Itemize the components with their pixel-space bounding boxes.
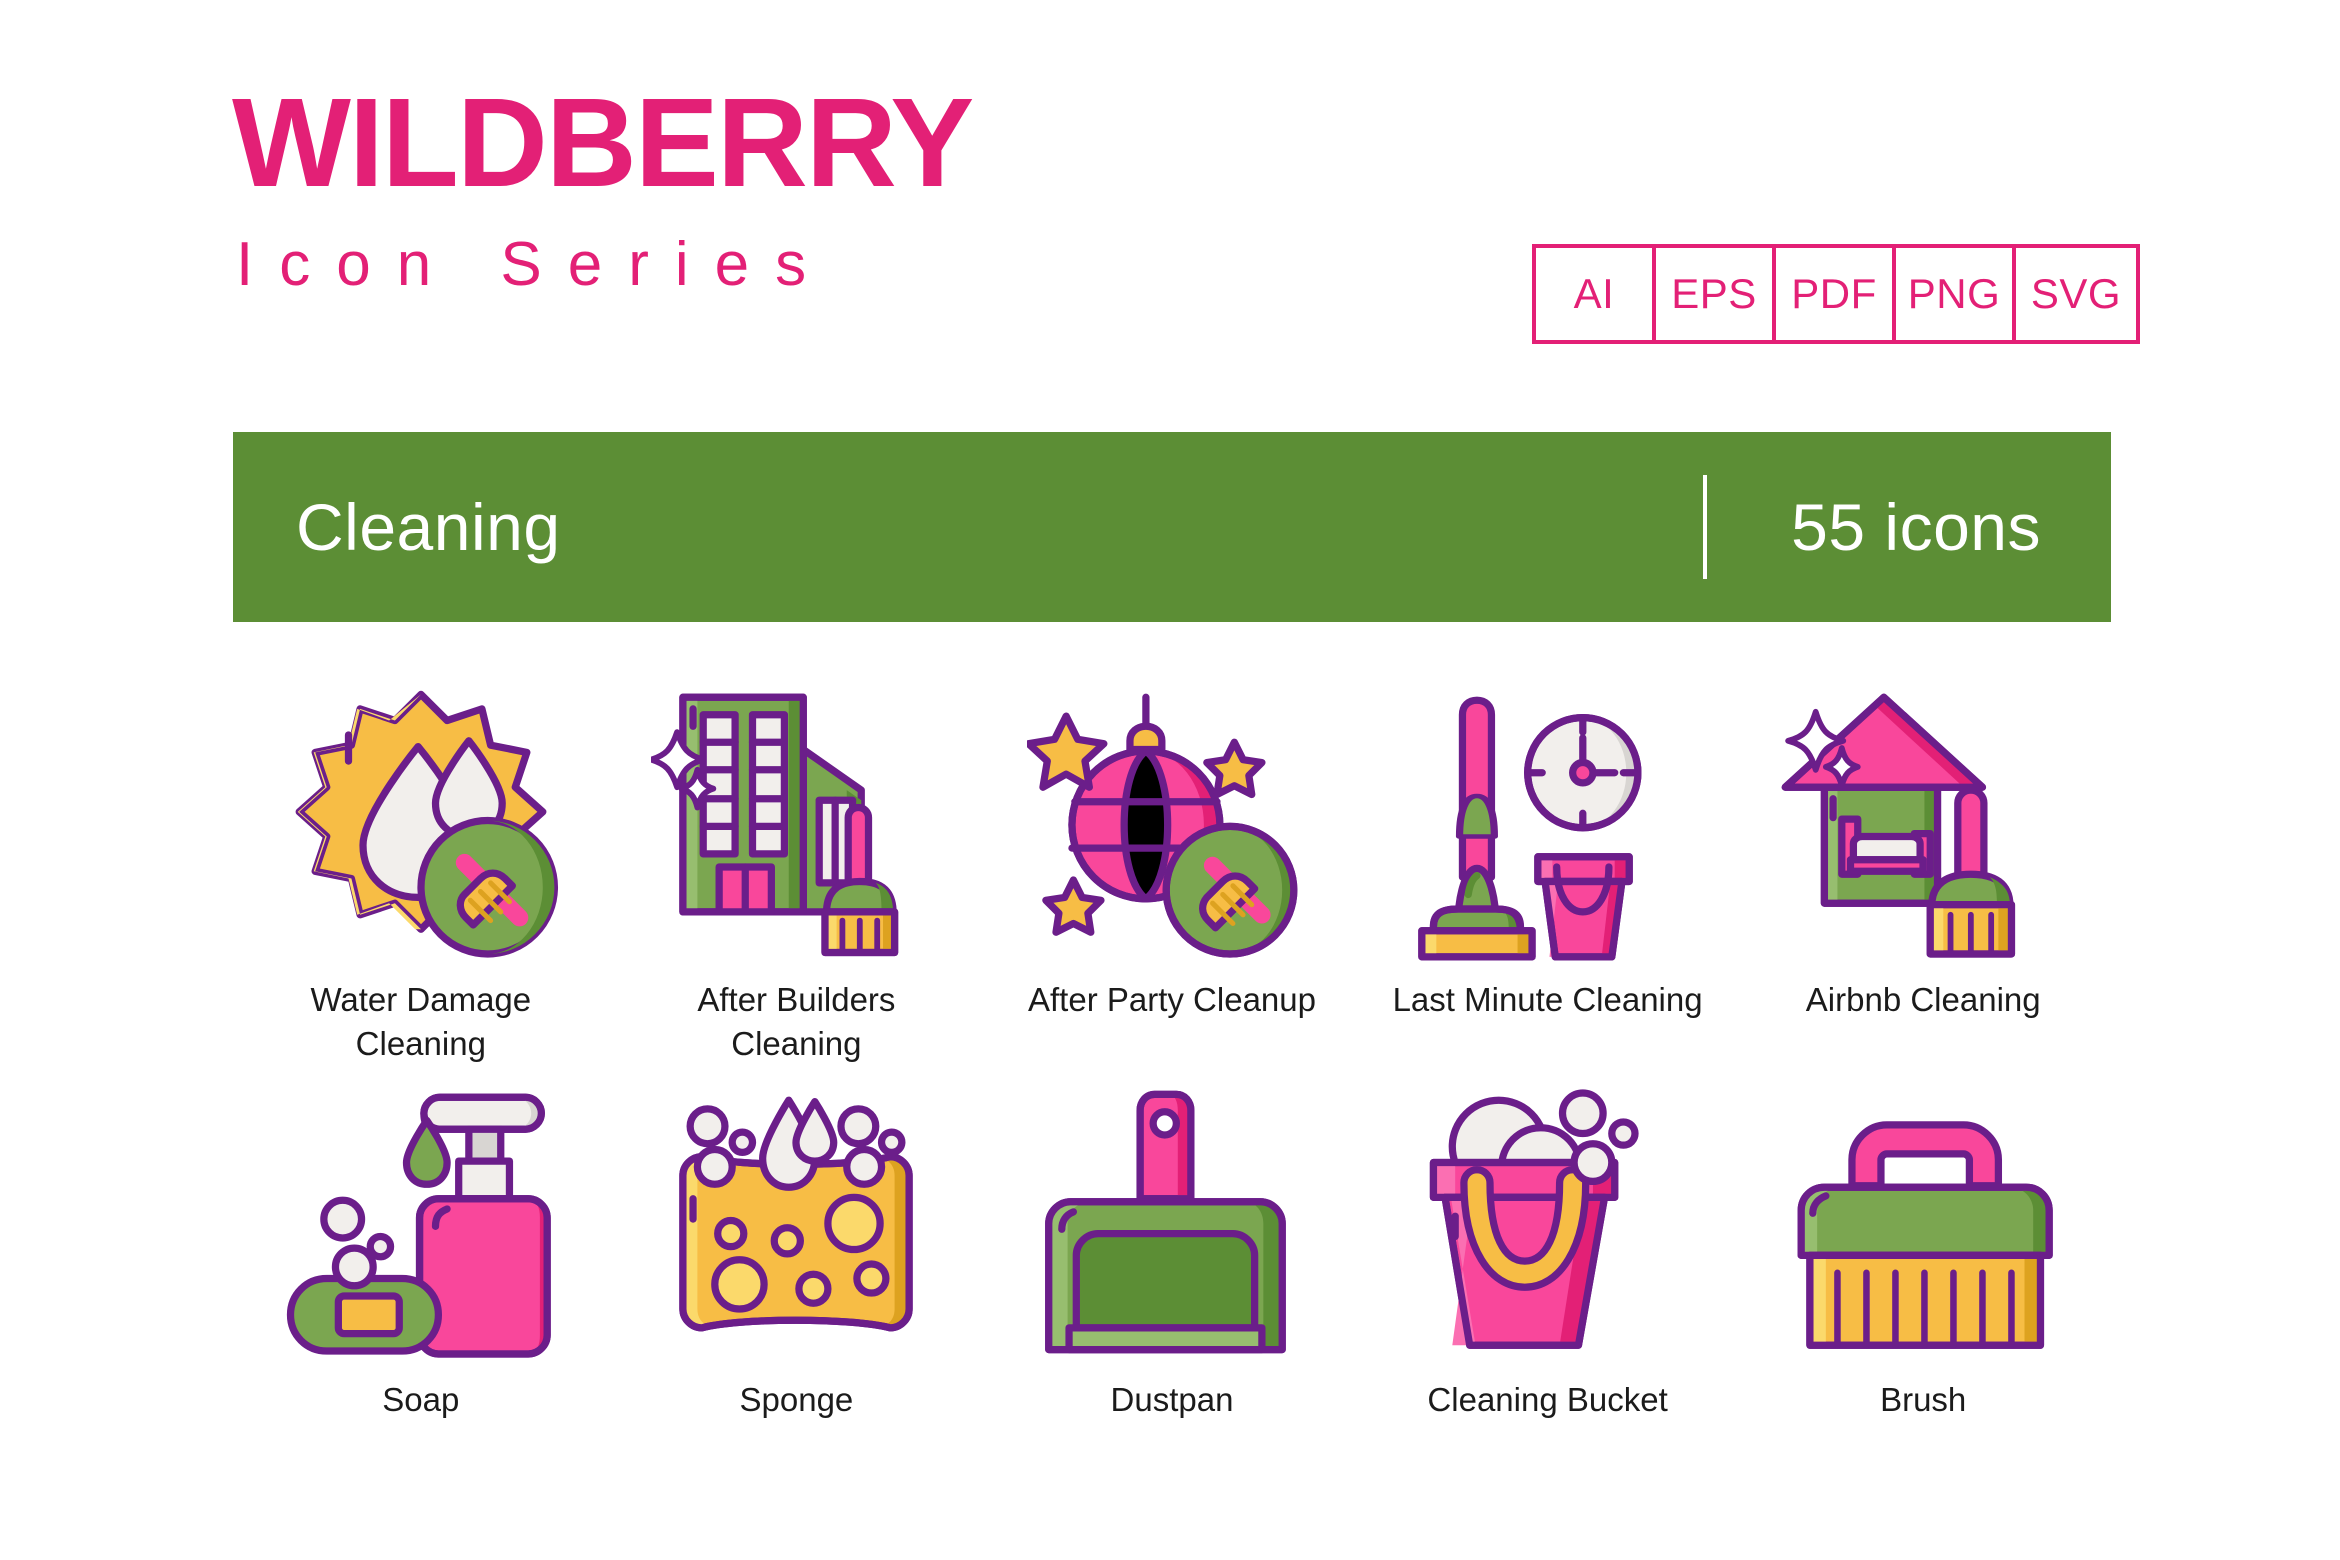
icon-label: Last Minute Cleaning — [1393, 978, 1703, 1022]
icon-label: Sponge — [740, 1378, 854, 1422]
format-badge-svg[interactable]: SVG — [2016, 248, 2136, 340]
icon-label: Soap — [382, 1378, 459, 1422]
icon-cell-after-builders-cleaning[interactable]: After Builders Cleaning — [609, 672, 985, 1072]
brush-icon[interactable] — [1763, 1072, 2083, 1372]
banner-right-group: 55 icons — [1703, 432, 2111, 622]
file-format-badges: AI EPS PDF PNG SVG — [1532, 244, 2140, 344]
brand-subtitle: Icon Series — [236, 234, 972, 296]
icon-cell-last-minute-cleaning[interactable]: Last Minute Cleaning — [1360, 672, 1736, 1072]
brand-title: WILDBERRY — [232, 80, 972, 206]
icon-cell-cleaning-bucket[interactable]: Cleaning Bucket — [1360, 1072, 1736, 1472]
water-damage-cleaning-icon[interactable] — [261, 672, 581, 972]
format-badge-ai[interactable]: AI — [1536, 248, 1656, 340]
icon-label: Water Damage Cleaning — [310, 978, 531, 1065]
category-banner: Cleaning 55 icons — [233, 432, 2111, 622]
icon-grid: Water Damage Cleaning — [233, 672, 2111, 1472]
icon-label: After Builders Cleaning — [697, 978, 895, 1065]
icon-label: After Party Cleanup — [1028, 978, 1316, 1022]
icon-cell-after-party-cleanup[interactable]: After Party Cleanup — [984, 672, 1360, 1072]
sponge-icon[interactable] — [636, 1072, 956, 1372]
icon-label: Cleaning Bucket — [1427, 1378, 1667, 1422]
banner-divider — [1703, 475, 1707, 579]
icon-cell-soap[interactable]: Soap — [233, 1072, 609, 1472]
brand-block: WILDBERRY Icon Series — [232, 80, 972, 296]
format-badge-png[interactable]: PNG — [1896, 248, 2016, 340]
icon-label: Dustpan — [1111, 1378, 1234, 1422]
dustpan-icon[interactable] — [1012, 1072, 1332, 1372]
icon-cell-airbnb-cleaning[interactable]: Airbnb Cleaning — [1735, 672, 2111, 1072]
format-badge-eps[interactable]: EPS — [1656, 248, 1776, 340]
page-header: WILDBERRY Icon Series AI EPS PDF PNG SVG — [0, 0, 2340, 420]
soap-icon[interactable] — [261, 1072, 581, 1372]
icon-cell-water-damage-cleaning[interactable]: Water Damage Cleaning — [233, 672, 609, 1072]
category-title: Cleaning — [296, 489, 561, 565]
last-minute-cleaning-icon[interactable] — [1388, 672, 1708, 972]
icon-cell-dustpan[interactable]: Dustpan — [984, 1072, 1360, 1472]
icon-count-label: 55 icons — [1791, 489, 2041, 565]
format-badge-pdf[interactable]: PDF — [1776, 248, 1896, 340]
icon-label: Airbnb Cleaning — [1806, 978, 2041, 1022]
icon-cell-sponge[interactable]: Sponge — [609, 1072, 985, 1472]
icon-cell-brush[interactable]: Brush — [1735, 1072, 2111, 1472]
after-party-cleanup-icon[interactable] — [1012, 672, 1332, 972]
airbnb-cleaning-icon[interactable] — [1763, 672, 2083, 972]
cleaning-bucket-icon[interactable] — [1388, 1072, 1708, 1372]
after-builders-cleaning-icon[interactable] — [636, 672, 956, 972]
icon-label: Brush — [1880, 1378, 1966, 1422]
